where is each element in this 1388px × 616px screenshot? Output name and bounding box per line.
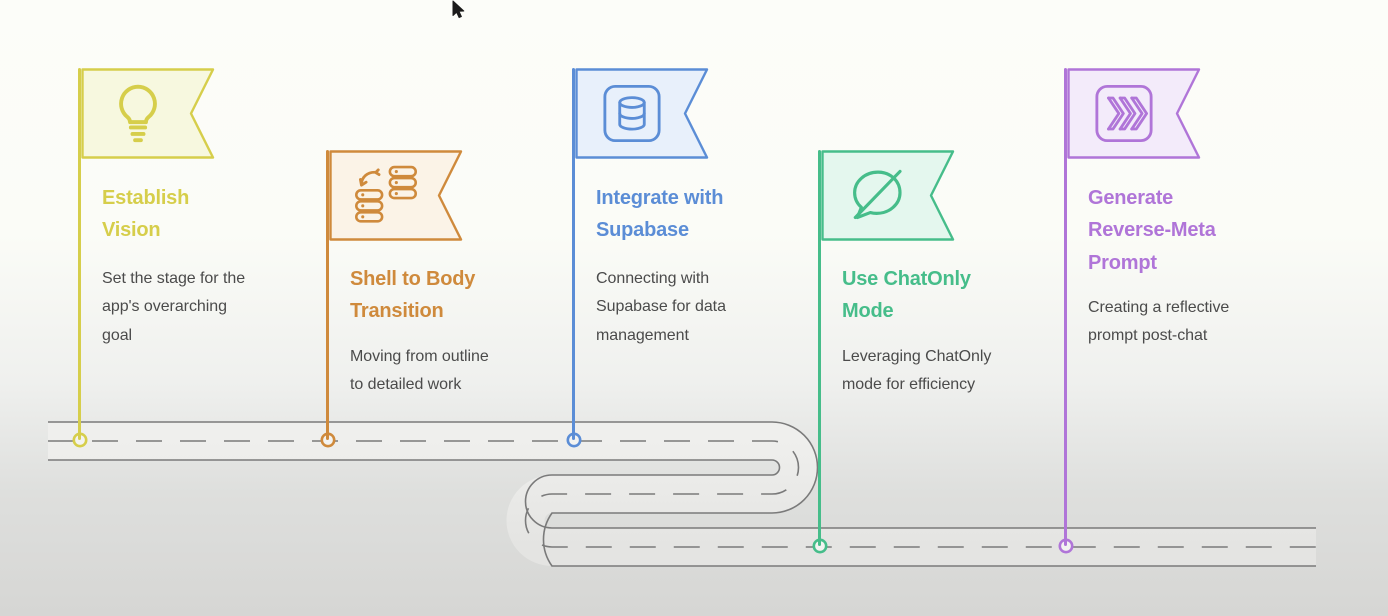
milestone-flag[interactable] bbox=[81, 68, 217, 160]
milestone-flag[interactable] bbox=[821, 150, 957, 242]
milestone-title: Establish Vision bbox=[102, 182, 302, 247]
milestone-description: Leveraging ChatOnly mode for efficiency bbox=[842, 343, 1052, 400]
flag-banner-shape bbox=[577, 70, 708, 158]
milestone-flag[interactable] bbox=[329, 150, 465, 242]
milestone-description: Moving from outline to detailed work bbox=[350, 343, 560, 400]
mouse-cursor bbox=[452, 0, 466, 20]
roadmap-diagram: Establish VisionSet the stage for the ap… bbox=[0, 0, 1388, 616]
flag-banner-shape bbox=[83, 70, 214, 158]
milestone-description: Creating a reflective prompt post-chat bbox=[1088, 294, 1298, 351]
milestone-flag[interactable] bbox=[575, 68, 711, 160]
flag-banner-shape bbox=[331, 152, 462, 240]
milestone-title: Shell to Body Transition bbox=[350, 263, 550, 328]
milestone-description: Set the stage for the app's overarching … bbox=[102, 265, 312, 350]
milestone-title: Integrate with Supabase bbox=[596, 182, 796, 247]
milestone-description: Connecting with Supabase for data manage… bbox=[596, 265, 806, 350]
flag-banner-shape bbox=[823, 152, 954, 240]
milestone-title: Use ChatOnly Mode bbox=[842, 263, 1042, 328]
milestone-flag[interactable] bbox=[1067, 68, 1203, 160]
milestone-title: Generate Reverse-Meta Prompt bbox=[1088, 182, 1288, 279]
